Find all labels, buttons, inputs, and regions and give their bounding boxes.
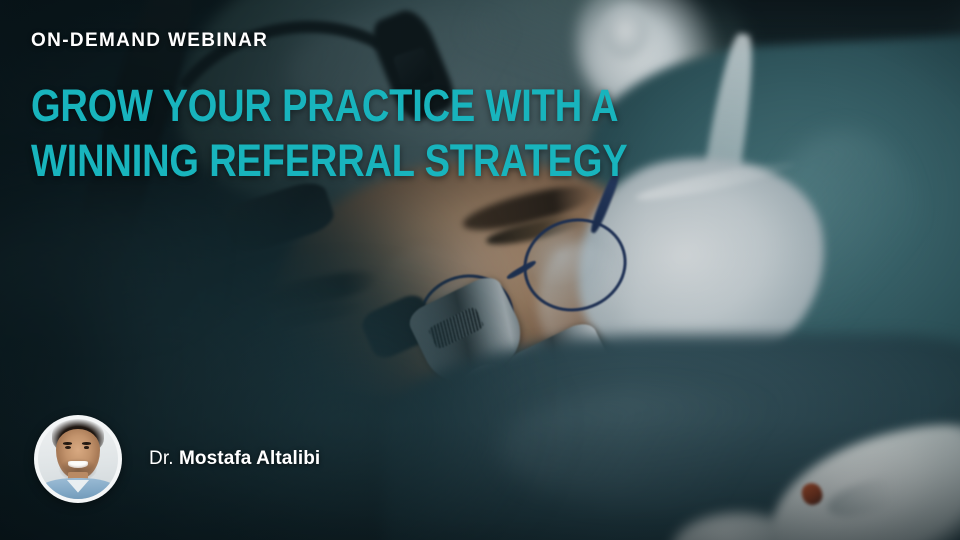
headline-line-2: WINNING REFERRAL STRATEGY	[31, 133, 555, 188]
headline-line-1: GROW YOUR PRACTICE WITH A	[31, 78, 555, 133]
webinar-title-slide: ON-DEMAND WEBINAR GROW YOUR PRACTICE WIT…	[0, 0, 960, 540]
avatar-smile	[68, 461, 87, 468]
avatar	[34, 415, 122, 503]
avatar-brow-left	[63, 442, 72, 444]
slide-content: ON-DEMAND WEBINAR GROW YOUR PRACTICE WIT…	[0, 0, 960, 540]
speaker-credit: Dr. Mostafa Altalibi	[34, 415, 320, 503]
page-title: GROW YOUR PRACTICE WITH A WINNING REFERR…	[31, 78, 651, 188]
avatar-brow-right	[82, 442, 91, 444]
eyebrow-label: ON-DEMAND WEBINAR	[31, 31, 268, 50]
speaker-name-prefix: Dr.	[149, 448, 174, 469]
speaker-name: Dr. Mostafa Altalibi	[149, 448, 320, 470]
portrait-avatar-icon	[38, 419, 118, 499]
speaker-name-full: Mostafa Altalibi	[179, 448, 320, 469]
